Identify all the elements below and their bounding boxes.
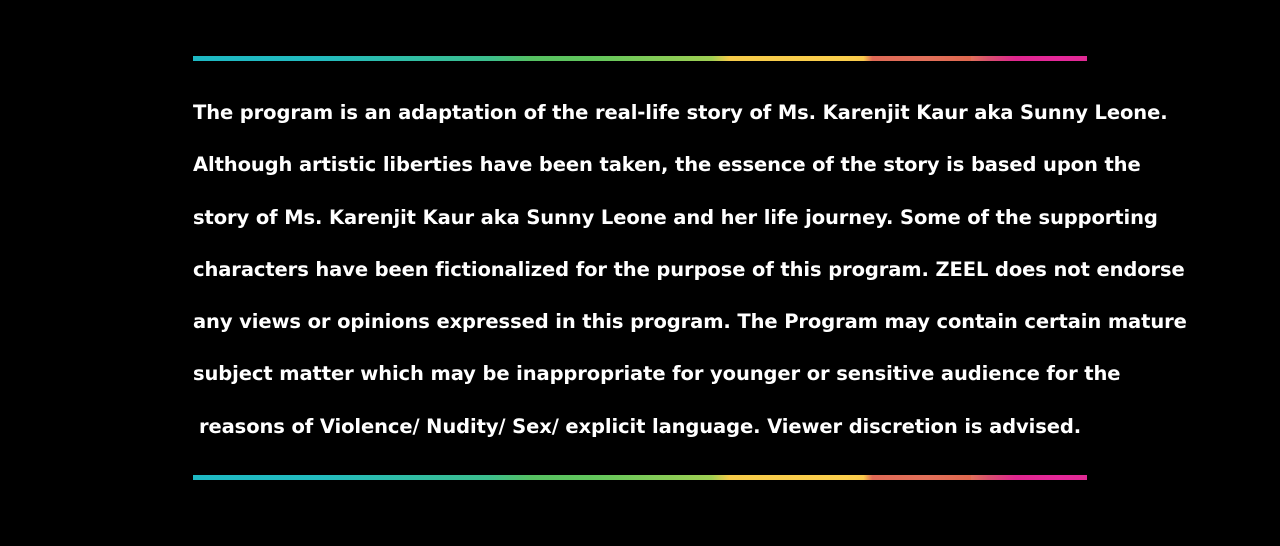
disclaimer-line-6: subject matter which may be inappropriat… bbox=[193, 348, 1087, 400]
disclaimer-line-1: The program is an adaptation of the real… bbox=[193, 87, 1087, 139]
disclaimer-line-5: any views or opinions expressed in this … bbox=[193, 296, 1087, 348]
gradient-rule-bottom-divider bbox=[193, 475, 1087, 480]
disclaimer-screen: The program is an adaptation of the real… bbox=[0, 0, 1280, 546]
disclaimer-line-2: Although artistic liberties have been ta… bbox=[193, 139, 1087, 191]
disclaimer-text-block: The program is an adaptation of the real… bbox=[193, 61, 1087, 475]
disclaimer-line-4: characters have been fictionalized for t… bbox=[193, 244, 1087, 296]
disclaimer-line-3: story of Ms. Karenjit Kaur aka Sunny Leo… bbox=[193, 192, 1087, 244]
disclaimer-line-7: reasons of Violence/ Nudity/ Sex/ explic… bbox=[193, 401, 1087, 453]
disclaimer-card: The program is an adaptation of the real… bbox=[193, 56, 1087, 480]
